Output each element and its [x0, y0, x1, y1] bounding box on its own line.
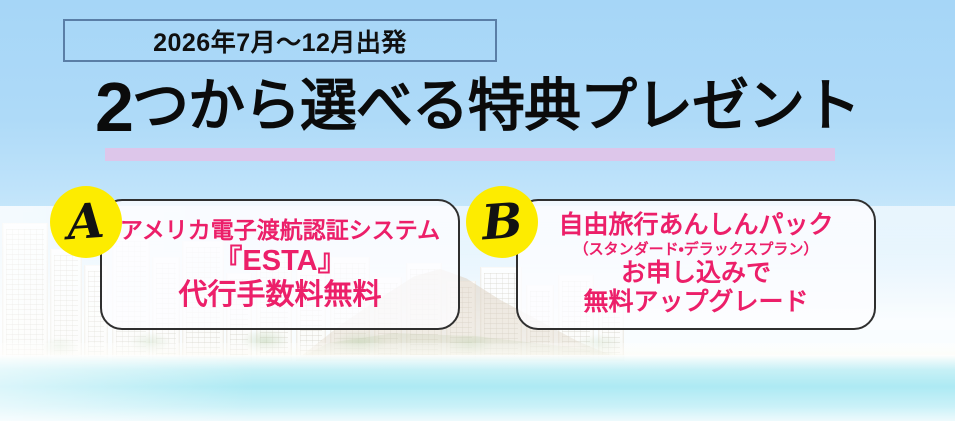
departure-date-label: 2026年7月〜12月出発	[153, 23, 407, 59]
headline-text: つから選べる特典プレゼント	[132, 74, 860, 138]
option-b-badge-letter: B	[480, 197, 524, 248]
headline-underline	[105, 148, 835, 161]
option-a-line-1: アメリカ電子渡航認証システム	[120, 217, 440, 244]
option-a-badge: A	[50, 186, 122, 258]
option-b-badge: B	[466, 186, 538, 258]
option-a-badge-letter: A	[66, 197, 107, 247]
option-a-line-3: 代行手数料無料	[178, 278, 381, 312]
headline-number: 2	[95, 68, 132, 146]
option-b-line-2: （スタンダード・デラックスプラン）	[574, 241, 819, 259]
option-a-line-2: 『ESTA』	[213, 244, 346, 278]
page-title: 2つから選べる特典プレゼント	[0, 72, 955, 142]
promo-banner: 2026年7月〜12月出発 2つから選べる特典プレゼント A アメリカ電子渡航認…	[0, 0, 955, 421]
option-b-line-3: お申し込みで	[621, 259, 771, 289]
departure-date-box: 2026年7月〜12月出発	[63, 19, 497, 62]
ocean-water	[0, 355, 955, 421]
option-b-panel: 自由旅行あんしんパック （スタンダード・デラックスプラン） お申し込みで 無料ア…	[516, 199, 876, 330]
option-b-line-1: 自由旅行あんしんパック	[558, 211, 833, 241]
option-b-line-4: 無料アップグレード	[583, 288, 808, 318]
option-a-panel: アメリカ電子渡航認証システム 『ESTA』 代行手数料無料	[100, 199, 460, 330]
